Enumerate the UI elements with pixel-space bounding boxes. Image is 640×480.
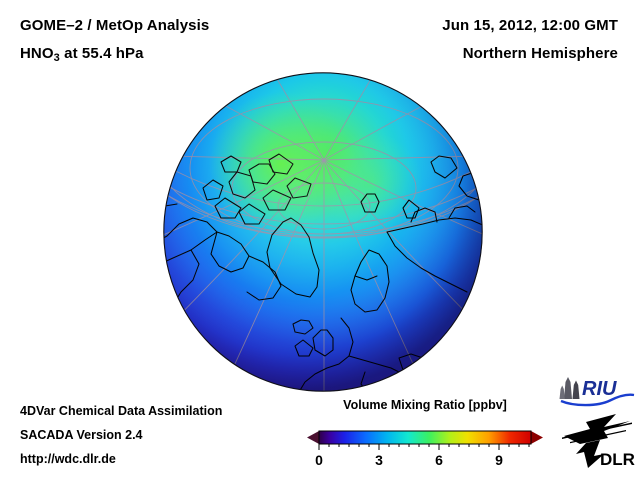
colorbar-tick-0: 0 [315,452,323,468]
colorbar-low-arrow [307,431,319,444]
globe-svg [163,72,483,392]
pressure-level-label: at 55.4 hPa [60,45,144,62]
figure-canvas: GOME–2 / MetOp Analysis HNO3 at 55.4 hPa… [0,0,640,480]
colorbar-high-arrow [531,431,543,444]
region-label: Northern Hemisphere [463,45,618,62]
page-title: GOME–2 / MetOp Analysis [20,17,209,34]
dlr-wordmark: DLR [600,450,635,469]
colorbar-svg: 0 3 6 9 [305,418,545,468]
dlr-logo: DLR [560,412,636,470]
riu-wordmark: RIU [582,378,617,400]
coastline-caspian-sea [443,334,463,364]
limb-shading [164,73,483,392]
species-formula-prefix: HNO [20,45,54,62]
footer-version: SACADA Version 2.4 [20,428,143,442]
colorbar-tick-3: 9 [495,452,503,468]
colorbar-title: Volume Mixing Ratio [ppbv] [305,398,545,412]
footer-method: 4DVar Chemical Data Assimilation [20,404,222,418]
colorbar-tick-2: 6 [435,452,443,468]
riu-logo: RIU [558,373,636,407]
riu-tower-icon [560,377,580,399]
globe-map [163,72,483,392]
colorbar-tick-1: 3 [375,452,383,468]
colorbar-gradient [319,431,531,444]
footer-url[interactable]: http://wdc.dlr.de [20,452,116,466]
colorbar: Volume Mixing Ratio [ppbv] [305,398,545,468]
coastline-arabia [431,370,467,392]
colorbar-ticks [319,444,529,450]
colorbar-tick-labels: 0 3 6 9 [315,452,503,468]
species-pressure-label: HNO3 at 55.4 hPa [20,45,144,64]
datetime-label: Jun 15, 2012, 12:00 GMT [442,17,618,34]
